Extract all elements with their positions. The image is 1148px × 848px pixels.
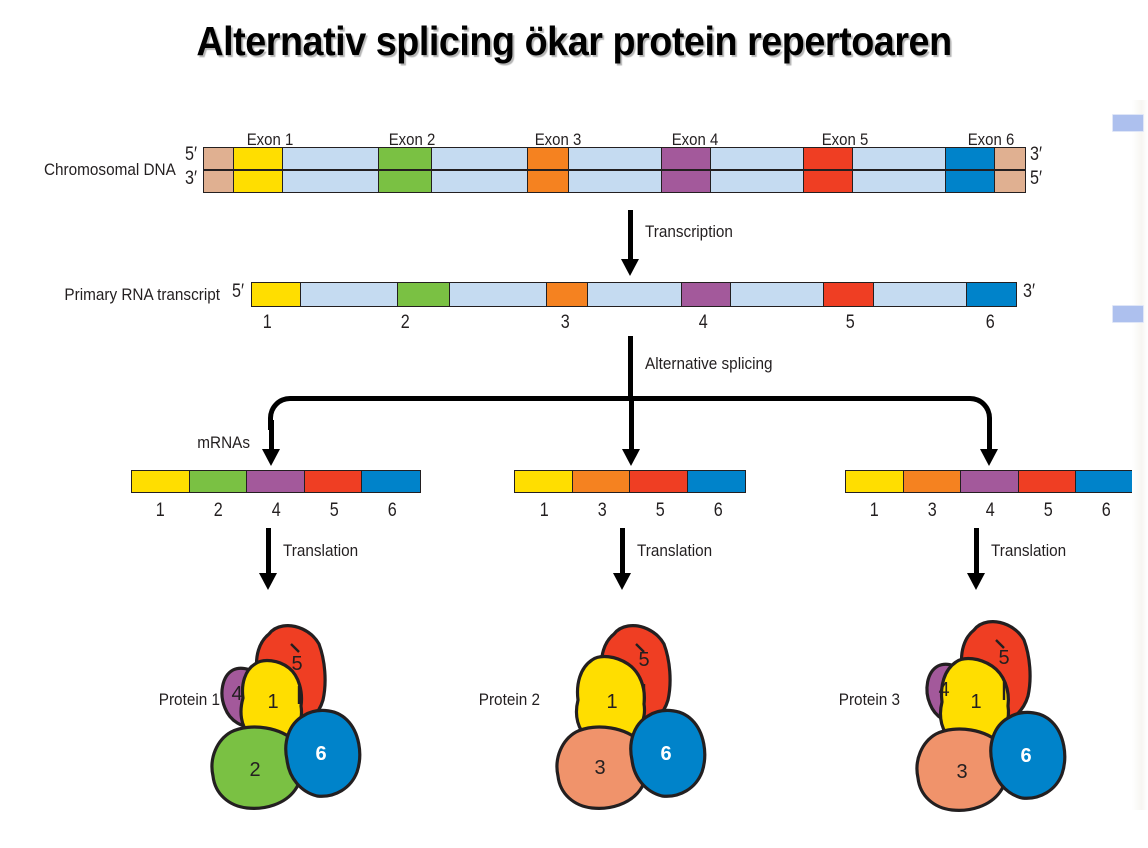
splice-arrow-center [621, 400, 641, 466]
slide-canvas: Alternativ splicing ökar protein reperto… [0, 0, 1148, 848]
chromosomal-dna-label: Chromosomal DNA [44, 160, 170, 180]
translation-label-1: Translation [283, 541, 358, 561]
rna-exon-number-2: 2 [401, 312, 410, 334]
mrna2-exon-3 [573, 471, 631, 492]
protein3-domain-label-1: 1 [970, 691, 981, 713]
mrna2-exon-1 [515, 471, 573, 492]
mrna1-exon-1 [132, 471, 190, 492]
rna-exon-1 [252, 283, 301, 306]
mrna3-num-3: 4 [986, 500, 995, 522]
dna-intron-5 [853, 148, 946, 169]
dna-exon-2-b [379, 171, 431, 192]
splice-arrow-right [979, 420, 999, 466]
dna-exon-1 [234, 148, 283, 169]
protein2-domain-label-3: 3 [594, 757, 605, 779]
translation-arrow-3 [966, 528, 986, 590]
protein3-domain-label-4: 4 [938, 679, 949, 701]
dna-exon-6 [946, 148, 995, 169]
dna-exon-4 [662, 148, 711, 169]
protein1-domain-label-5: 5 [291, 653, 302, 675]
mrna3-num-4: 5 [1044, 500, 1053, 522]
placeholder-handle-bottom[interactable] [1112, 305, 1144, 323]
translation-label-3: Translation [991, 541, 1066, 561]
protein1-domain-label-6: 6 [315, 743, 326, 765]
transcription-label: Transcription [645, 222, 733, 242]
mrna2-exon-6 [688, 471, 746, 492]
rna-exon-5 [824, 283, 873, 306]
rna-intron-4 [731, 283, 824, 306]
translation-label-2: Translation [637, 541, 712, 561]
dna-right-prime-bottom: 5′ [1030, 168, 1042, 190]
dna-flank-right [995, 148, 1025, 169]
protein-3-label: Protein 3 [801, 690, 900, 710]
mrna2-num-2: 3 [598, 500, 607, 522]
mrna3-num-2: 3 [928, 500, 937, 522]
protein-3-structure: 4 5 1 3 6 [900, 608, 1148, 828]
protein2-domain-label-5: 5 [638, 649, 649, 671]
dna-exon-5-b [804, 171, 853, 192]
dna-exon-6-b [946, 171, 995, 192]
transcription-arrow [620, 210, 640, 276]
protein-2-label: Protein 2 [441, 690, 540, 710]
dna-strand-top [203, 147, 1026, 170]
rna-exon-number-3: 3 [561, 312, 570, 334]
mrna3-exon-3 [904, 471, 962, 492]
dna-flank-right-b [995, 171, 1025, 192]
mrna3-exon-5 [1019, 471, 1077, 492]
page-title: Alternativ splicing ökar protein reperto… [46, 18, 1102, 65]
rna-exon-number-5: 5 [846, 312, 855, 334]
mrna-2-bar [514, 470, 746, 493]
mrna1-exon-5 [305, 471, 363, 492]
rna-exon-2 [398, 283, 450, 306]
protein3-domain-label-3: 3 [956, 761, 967, 783]
mrna1-exon-2 [190, 471, 248, 492]
mrna1-num-1: 1 [156, 500, 165, 522]
dna-intron-3-b [569, 171, 662, 192]
dna-intron-1-b [283, 171, 379, 192]
mrna1-num-4: 5 [330, 500, 339, 522]
primary-transcript-label: Primary RNA transcript [49, 285, 220, 305]
dna-left-prime-top: 5′ [185, 144, 197, 166]
mrna1-exon-6 [362, 471, 420, 492]
mrna3-exon-4 [961, 471, 1019, 492]
dna-exon-3-b [528, 171, 569, 192]
placeholder-handle-top[interactable] [1112, 114, 1144, 132]
dna-exon-1-b [234, 171, 283, 192]
protein1-domain-label-1: 1 [267, 691, 278, 713]
dna-left-prime-bottom: 3′ [185, 168, 197, 190]
transcript-left-prime: 5′ [232, 281, 244, 303]
splice-arrow-left [261, 420, 281, 466]
rna-exon-6 [967, 283, 1016, 306]
dna-right-prime-top: 3′ [1030, 144, 1042, 166]
dna-intron-1 [283, 148, 379, 169]
protein2-domain-label-6: 6 [660, 743, 671, 765]
mrna1-exon-4 [247, 471, 305, 492]
rna-intron-5 [874, 283, 967, 306]
translation-arrow-2 [612, 528, 632, 590]
dna-exon-3 [528, 148, 569, 169]
dna-flank-left-b [204, 171, 234, 192]
protein-2-structure: 5 1 3 6 [540, 608, 790, 828]
dna-exon-4-b [662, 171, 711, 192]
dna-intron-2-b [432, 171, 528, 192]
mrna3-exon-6 [1076, 471, 1134, 492]
alternative-splicing-label: Alternative splicing [645, 354, 773, 374]
mrna-1-bar [131, 470, 421, 493]
splicing-stem [628, 336, 633, 398]
transcript-right-prime: 3′ [1023, 281, 1035, 303]
translation-arrow-1 [258, 528, 278, 590]
rna-exon-number-6: 6 [986, 312, 995, 334]
primary-rna-transcript-bar [251, 282, 1017, 307]
dna-intron-3 [569, 148, 662, 169]
mrna3-num-1: 1 [870, 500, 879, 522]
rna-intron-1 [301, 283, 398, 306]
protein1-domain-label-2: 2 [249, 759, 260, 781]
dna-intron-5-b [853, 171, 946, 192]
rna-exon-4 [682, 283, 731, 306]
protein3-domain-label-5: 5 [998, 647, 1009, 669]
content-placeholder-strip [1132, 100, 1148, 810]
rna-intron-3 [588, 283, 681, 306]
mrna2-num-3: 5 [656, 500, 665, 522]
protein1-domain-label-4: 4 [231, 683, 242, 705]
rna-exon-3 [547, 283, 588, 306]
mrna2-num-1: 1 [540, 500, 549, 522]
rna-exon-number-1: 1 [263, 312, 272, 334]
mrna1-num-2: 2 [214, 500, 223, 522]
protein-1-structure: 4 5 1 2 6 [195, 608, 445, 828]
dna-flank-left [204, 148, 234, 169]
protein3-domain-label-6: 6 [1020, 745, 1031, 767]
rna-intron-2 [450, 283, 547, 306]
mrna-3-bar [845, 470, 1135, 493]
mrna1-num-3: 4 [272, 500, 281, 522]
dna-intron-4-b [711, 171, 804, 192]
mrna3-num-5: 6 [1102, 500, 1111, 522]
mrnas-label: mRNAs [187, 433, 250, 453]
dna-strand-bottom [203, 170, 1026, 193]
mrna3-exon-1 [846, 471, 904, 492]
mrna1-num-5: 6 [388, 500, 397, 522]
dna-intron-2 [432, 148, 528, 169]
dna-exon-5 [804, 148, 853, 169]
mrna2-num-4: 6 [714, 500, 723, 522]
dna-intron-4 [711, 148, 804, 169]
mrna2-exon-5 [630, 471, 688, 492]
dna-exon-2 [379, 148, 431, 169]
protein2-domain-label-1: 1 [606, 691, 617, 713]
rna-exon-number-4: 4 [699, 312, 708, 334]
